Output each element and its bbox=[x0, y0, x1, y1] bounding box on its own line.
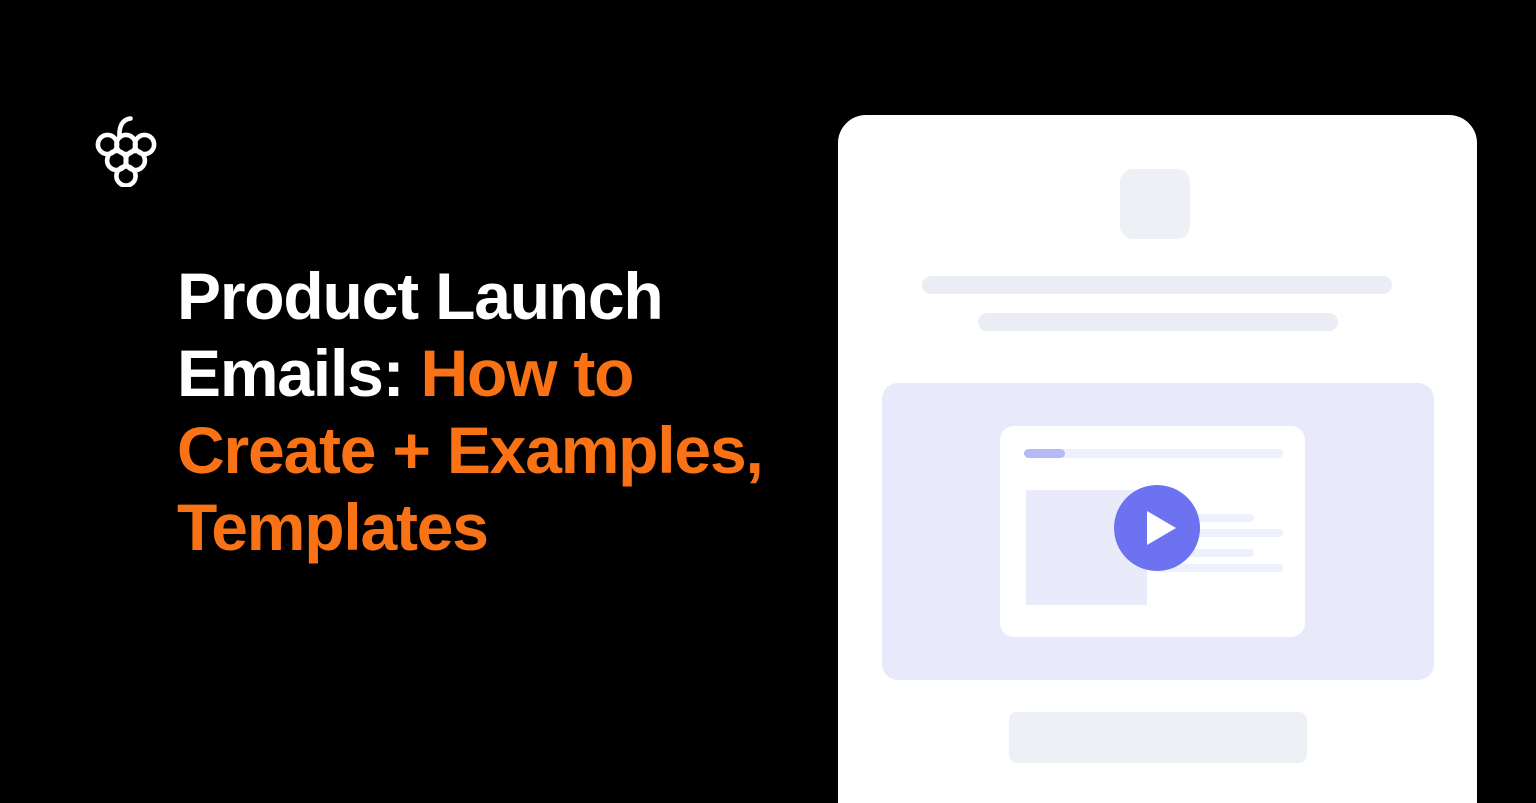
headline-line-2-accent: How to bbox=[421, 336, 634, 410]
page-title: Product Launch Emails: How to Create + E… bbox=[177, 258, 837, 566]
email-headline-placeholder-bar bbox=[922, 276, 1392, 294]
headline-line-2-plain: Emails: bbox=[177, 336, 421, 410]
email-mockup-card bbox=[838, 115, 1477, 803]
headline-line-4-accent: Templates bbox=[177, 490, 488, 564]
headline-line-1: Product Launch bbox=[177, 259, 663, 333]
email-logo-placeholder bbox=[1120, 169, 1190, 239]
email-subheadline-placeholder-bar bbox=[978, 313, 1338, 331]
grape-cluster-icon bbox=[92, 115, 160, 187]
email-cta-placeholder-button[interactable] bbox=[1009, 712, 1307, 763]
hero-banner: Product Launch Emails: How to Create + E… bbox=[0, 0, 1536, 803]
headline-line-3-accent: Create + Examples, bbox=[177, 413, 763, 487]
play-triangle-icon bbox=[1147, 511, 1176, 545]
video-progress-fill bbox=[1024, 449, 1065, 458]
play-button[interactable] bbox=[1114, 485, 1200, 571]
